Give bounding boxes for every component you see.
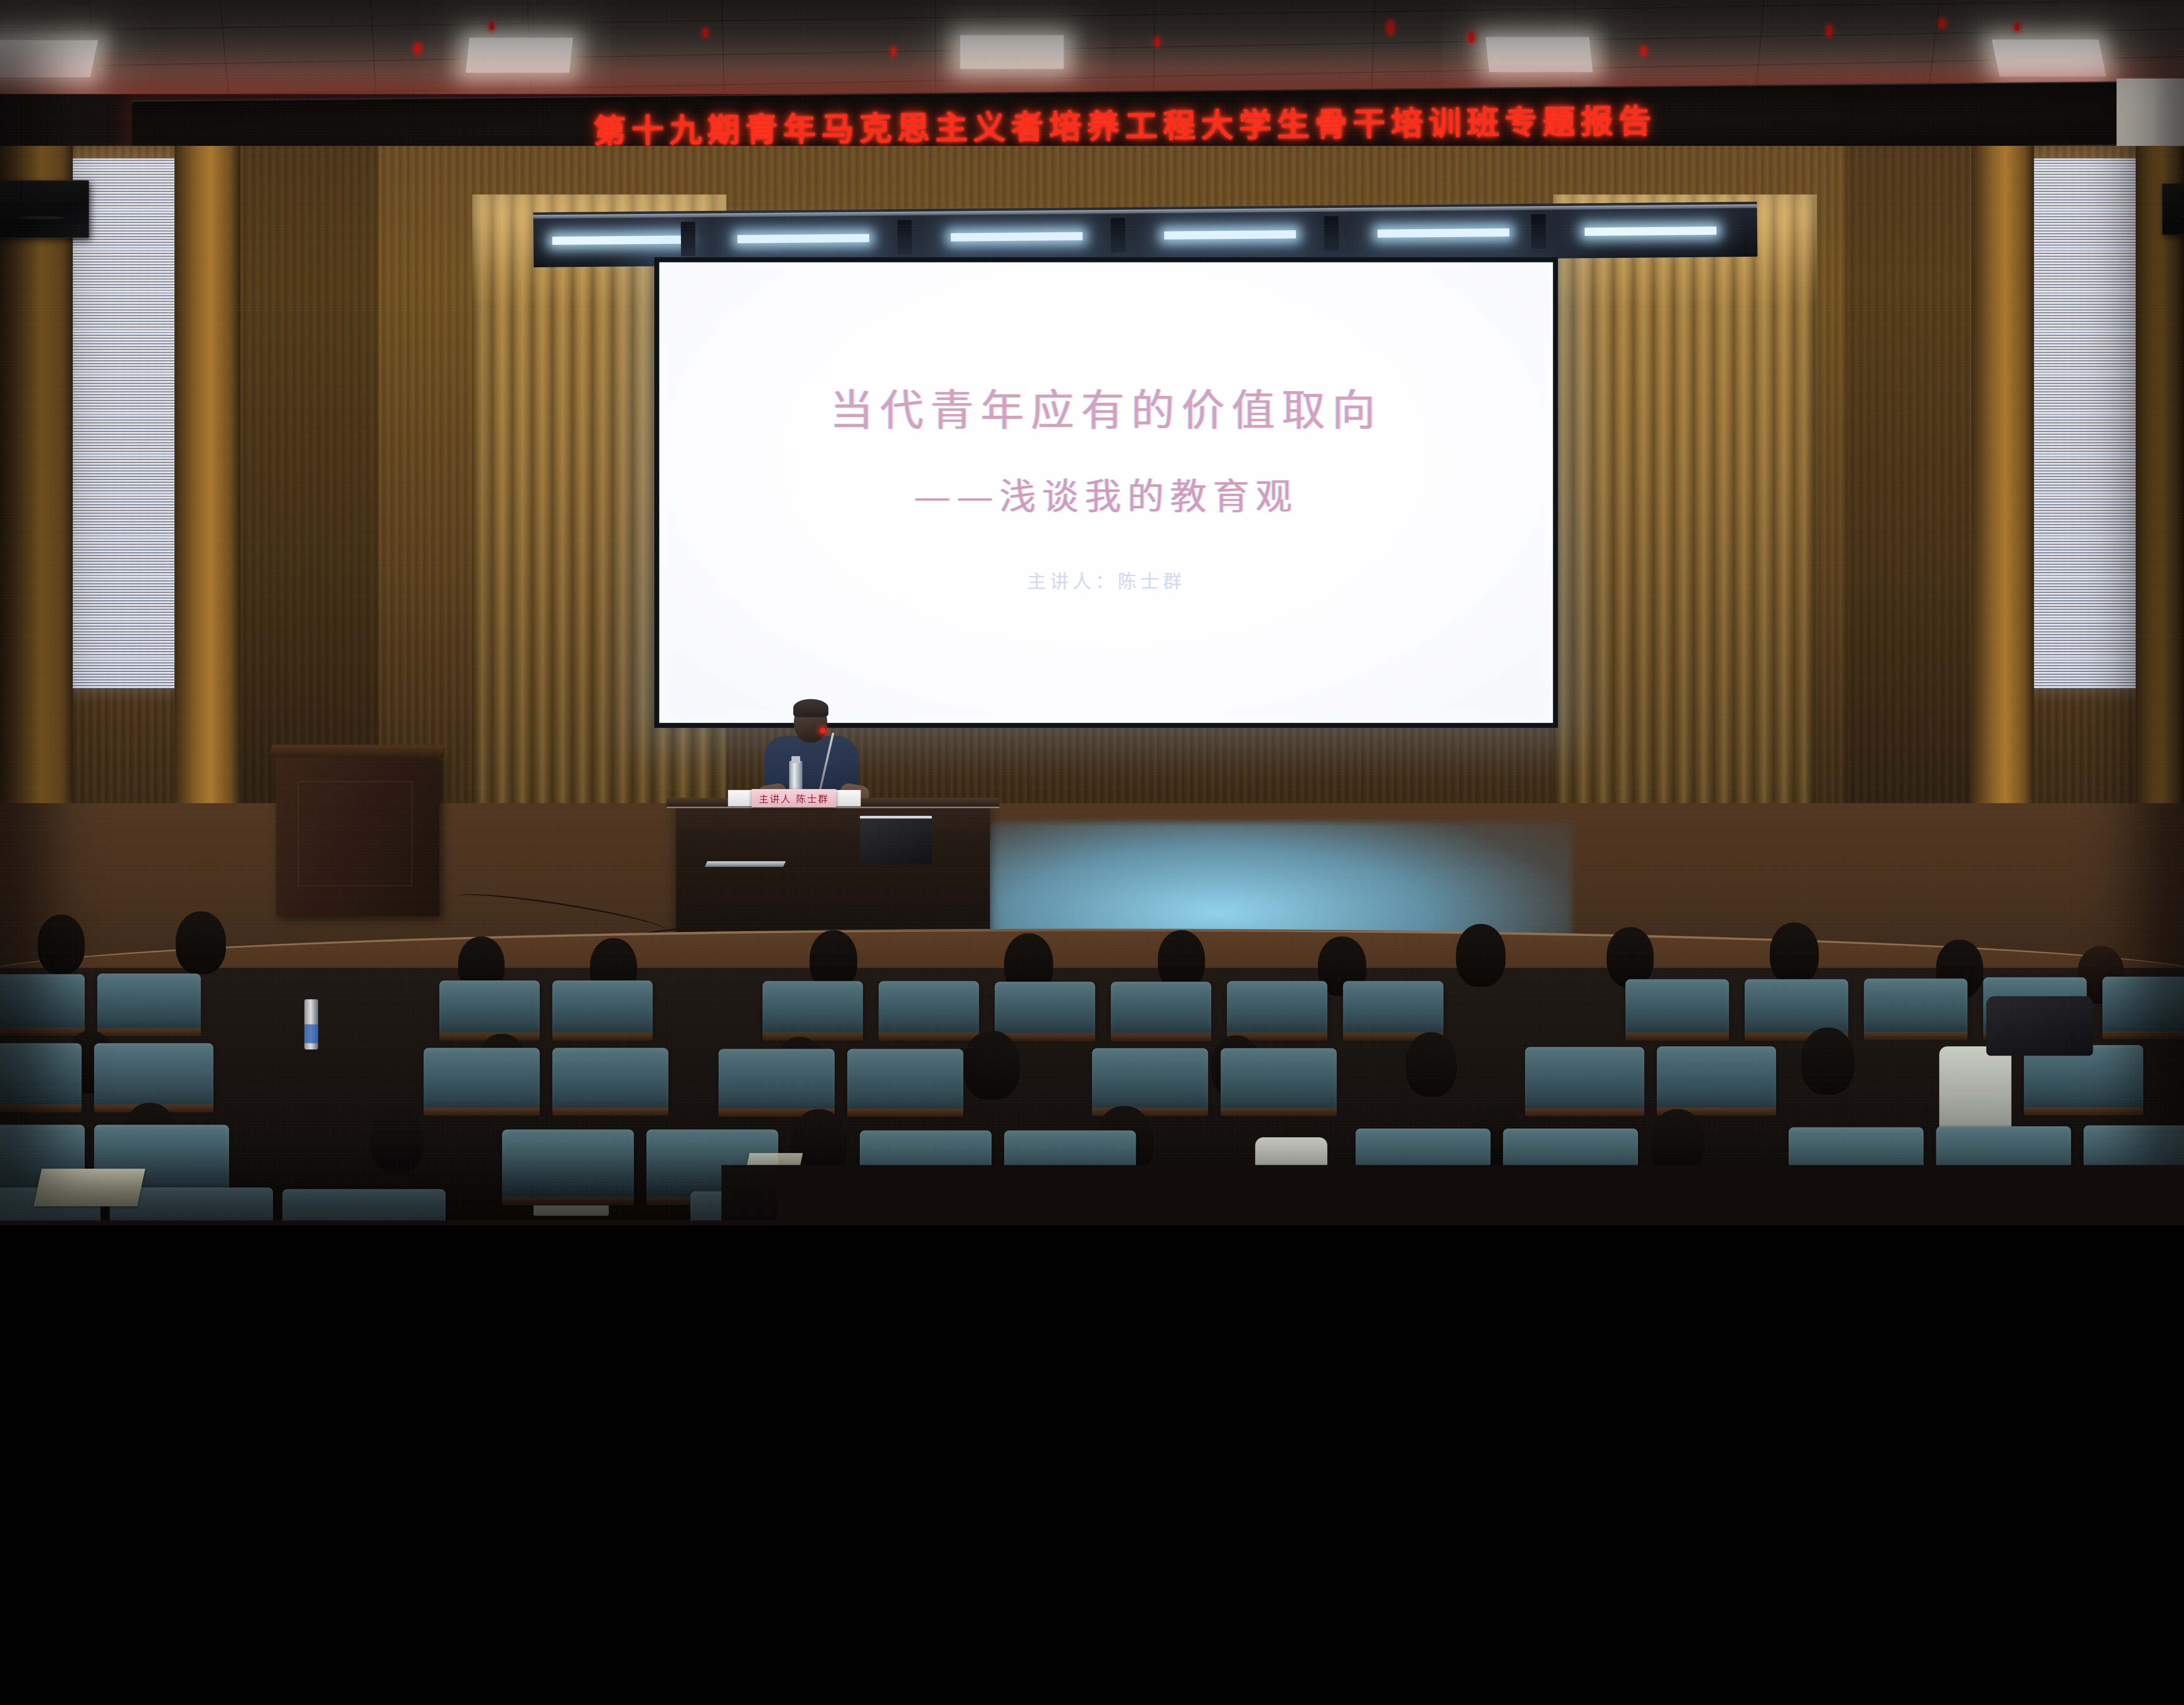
open-notebook	[34, 1169, 145, 1206]
projection-screen: 当代青年应有的价值取向 ——浅谈我的教育观 主讲人：陈士群	[654, 257, 1558, 728]
auditorium-seat[interactable]	[860, 1130, 992, 1201]
auditorium-seat[interactable]	[1221, 1048, 1337, 1111]
auditorium-seat[interactable]	[860, 1191, 1019, 1225]
laptop[interactable]	[718, 814, 779, 864]
audience-head	[1801, 1028, 1855, 1095]
auditorium-seat[interactable]	[995, 982, 1095, 1036]
auditorium-seat[interactable]	[1905, 1187, 2068, 1225]
auditorium-seat[interactable]	[1111, 982, 1211, 1036]
audience-head	[1651, 1109, 1705, 1177]
auditorium-seat[interactable]	[1559, 1189, 1723, 1225]
podium	[276, 753, 439, 916]
ceiling-light	[466, 38, 573, 72]
backpack	[1986, 996, 2093, 1056]
audience-shirt	[1255, 1137, 1327, 1219]
slide-subtitle: ——浅谈我的教育观	[659, 467, 1553, 520]
auditorium-seat[interactable]	[1227, 981, 1327, 1035]
auditorium-seat[interactable]	[719, 1049, 835, 1112]
ceiling-light	[1486, 37, 1593, 72]
auditorium-seat[interactable]	[1004, 1130, 1136, 1201]
auditorium-seat[interactable]	[690, 1191, 850, 1225]
auditorium-seat[interactable]	[763, 981, 863, 1035]
bottle-cap	[791, 756, 800, 763]
audience-shirt	[1939, 1046, 2011, 1128]
slide-title: 当代青年应有的价值取向	[659, 375, 1553, 438]
auditorium-seat[interactable]	[0, 974, 85, 1031]
audience-head	[1456, 924, 1506, 987]
auditorium-seat[interactable]	[1092, 1048, 1208, 1111]
slide-presenter: 主讲人：陈士群	[659, 566, 1553, 594]
auditorium-scene: 第十九期青年马克思主义者培养工程大学生骨干培训班专题报告	[0, 0, 2184, 1225]
auditorium-seat[interactable]	[878, 981, 979, 1035]
auditorium-seat[interactable]	[0, 1043, 82, 1108]
audience-area	[0, 968, 2184, 1225]
auditorium-seat[interactable]	[94, 1043, 214, 1108]
ceiling-light	[1992, 40, 2106, 77]
auditorium-seat[interactable]	[2102, 977, 2184, 1034]
auditorium-seat[interactable]	[283, 1189, 446, 1225]
auditorium-seat[interactable]	[1525, 1047, 1644, 1111]
auditorium-seat[interactable]	[2077, 1187, 2184, 1225]
microphone-led-icon	[820, 728, 826, 733]
auditorium-seat[interactable]	[1029, 1191, 1189, 1225]
auditorium-seat[interactable]	[1864, 979, 1967, 1035]
auditorium-seat[interactable]	[502, 1129, 634, 1200]
auditorium-seat[interactable]	[552, 980, 653, 1035]
audience-head	[1607, 927, 1654, 987]
auditorium-seat[interactable]	[1625, 979, 1729, 1035]
auditorium-seat[interactable]	[847, 1049, 964, 1112]
auditorium-seat[interactable]	[424, 1048, 540, 1111]
auditorium-seat[interactable]	[1387, 1189, 1550, 1225]
ceiling-light	[960, 35, 1064, 69]
acoustic-panel-right	[2033, 159, 2137, 689]
auditorium-seat[interactable]	[552, 1048, 668, 1111]
audience-head	[1406, 1032, 1456, 1097]
audience-head	[1770, 922, 1819, 984]
auditorium-seat[interactable]	[1745, 979, 1848, 1035]
auditorium-seat[interactable]	[97, 973, 201, 1031]
audience-head	[38, 915, 85, 974]
auditorium-seat[interactable]	[1343, 981, 1444, 1035]
audience-head	[1158, 930, 1205, 990]
name-placard: 主讲人 陈士群	[752, 789, 836, 808]
open-notebook	[744, 1153, 803, 1178]
laptop-base	[705, 861, 786, 867]
auditorium-seat[interactable]	[1657, 1046, 1776, 1111]
bottle-label	[304, 1025, 318, 1043]
loudspeaker-icon	[0, 180, 89, 238]
ceiling	[0, 0, 2184, 94]
ceiling-light	[0, 40, 98, 77]
chair-back	[860, 816, 932, 864]
auditorium-seat[interactable]	[439, 980, 540, 1035]
audience-head	[963, 1031, 1019, 1100]
speaker-hair	[793, 699, 828, 718]
audience-head	[370, 1106, 424, 1173]
auditorium-seat[interactable]	[1732, 1188, 1896, 1225]
audience-head	[176, 911, 226, 974]
loudspeaker-icon	[2162, 183, 2184, 235]
